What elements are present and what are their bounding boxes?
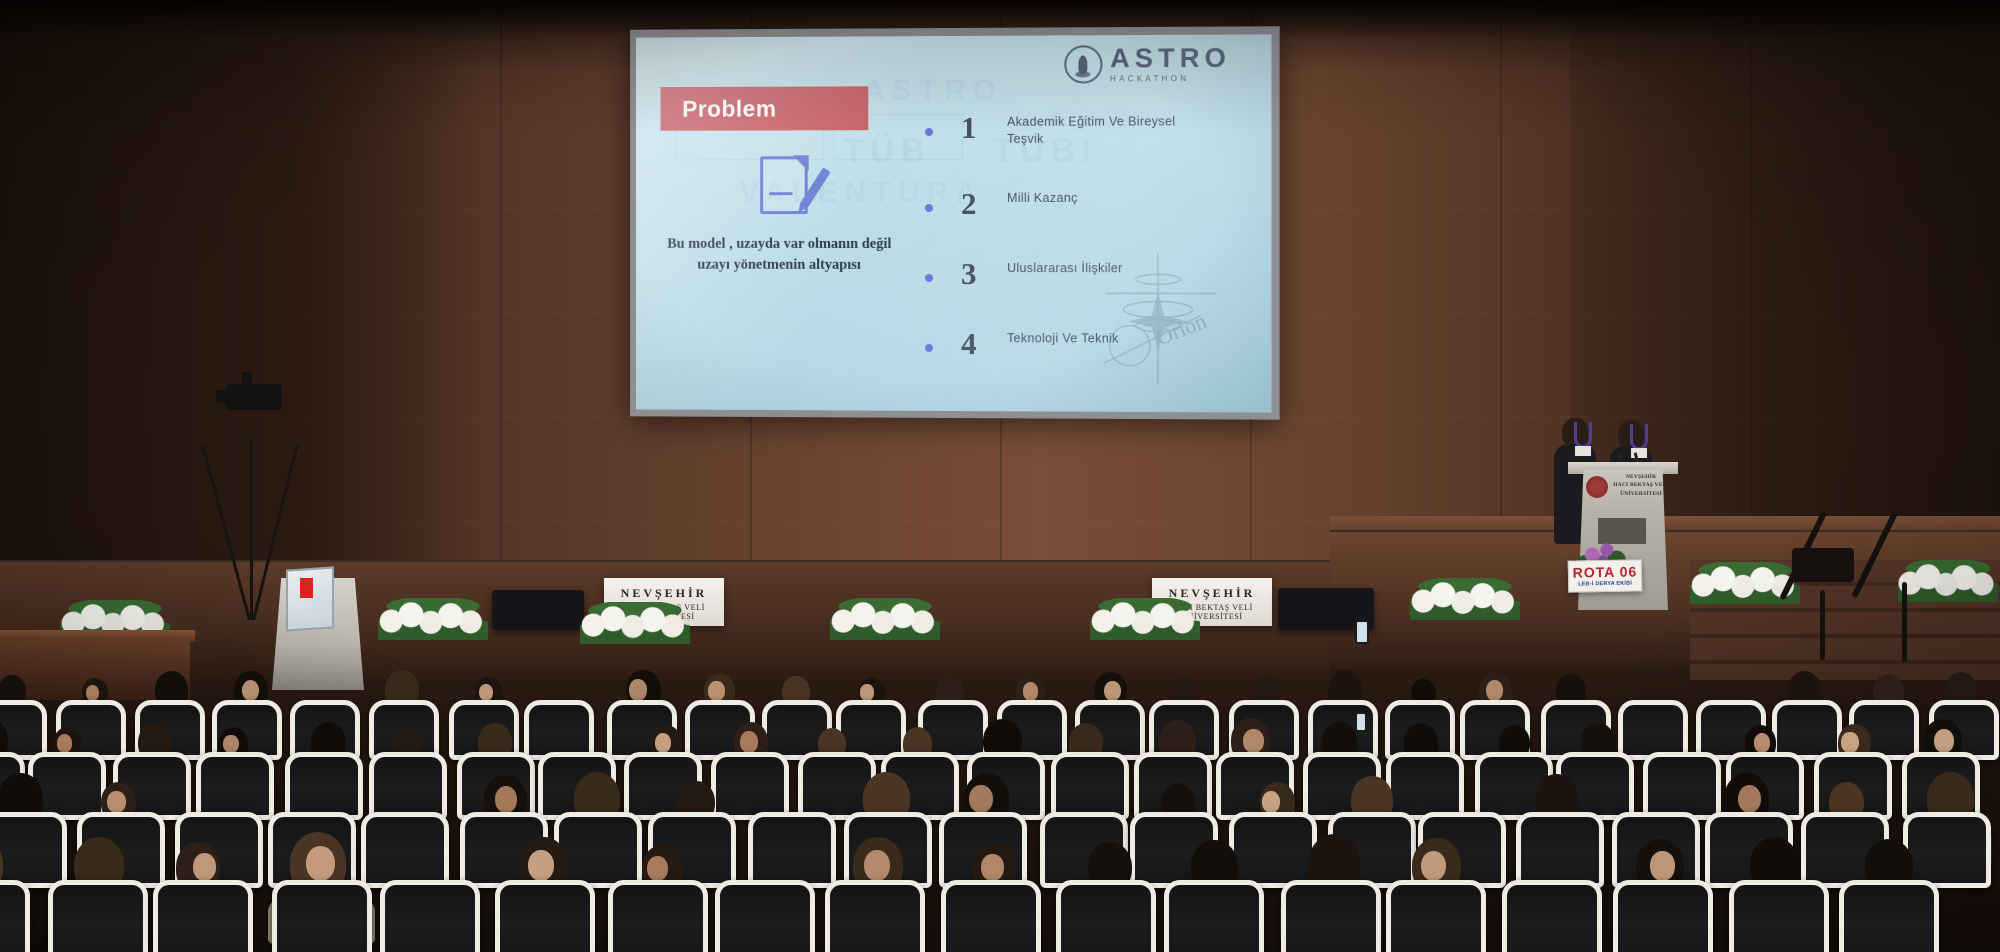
- flower-arrangement: [378, 598, 488, 640]
- auditorium-seat: [836, 700, 906, 760]
- audience-person-face: [479, 684, 493, 701]
- auditorium-seat: [495, 880, 595, 952]
- handrail: [1902, 582, 1907, 662]
- auditorium-seat: [272, 880, 372, 952]
- audience-person-face: [193, 853, 216, 881]
- astro-logo-primary: ASTRO: [1110, 45, 1231, 73]
- podium-institution-text: NEVŞEHİR HACI BEKTAŞ VELİ ÜNİVERSİTESİ: [1608, 473, 1674, 498]
- auditorium-seat: [1056, 880, 1156, 952]
- auditorium-seat: [0, 880, 30, 952]
- list-item-number: 2: [961, 186, 977, 222]
- flower-arrangement: [830, 598, 940, 640]
- list-item-label: Milli Kazanç: [1007, 190, 1178, 207]
- audience-person-face: [1421, 851, 1446, 881]
- camera-stand: [1820, 590, 1825, 660]
- auditorium-seat: [825, 880, 925, 952]
- audience-person-face: [1934, 729, 1954, 753]
- auditorium-seat: [715, 880, 815, 952]
- audience-phone: [1355, 620, 1369, 644]
- university-seal-icon: [1586, 476, 1608, 498]
- flower-arrangement: [580, 602, 690, 644]
- audience-person-face: [495, 786, 517, 813]
- auditorium-scene: ASTRO TÜB TUBI VALENTURA Problem ASTRO H…: [0, 0, 2000, 952]
- flower-arrangement: [1898, 560, 1998, 602]
- auditorium-seat: [608, 880, 708, 952]
- team-sign: ROTA 06 LEB-İ DERYA EKİBİ: [1568, 559, 1643, 592]
- auditorium-seat: [1051, 752, 1129, 820]
- astro-logo-text: ASTRO HACKATHON: [1110, 45, 1231, 84]
- audience-person-face: [629, 679, 647, 700]
- podium-line-1: NEVŞEHİR: [1608, 473, 1674, 481]
- video-camera-on-tripod: [196, 370, 306, 620]
- auditorium-seat: [941, 880, 1041, 952]
- bullet-dot-icon: [925, 274, 933, 282]
- flower-arrangement: [1410, 578, 1520, 620]
- broadcast-camera: [1792, 548, 1854, 582]
- auditorium-seat: [554, 812, 642, 888]
- audience-person-face: [969, 785, 993, 813]
- slide-caption-line-2: uzayı yönetmenin altyapısı: [661, 255, 899, 276]
- astro-logo-secondary: HACKATHON: [1110, 75, 1231, 84]
- lanyard-icon: [1630, 424, 1648, 450]
- list-item-number: 4: [961, 326, 977, 362]
- list-item-number: 1: [961, 110, 977, 146]
- rocket-in-circle-icon: [1064, 45, 1102, 83]
- auditorium-seat: [361, 812, 449, 888]
- auditorium-seat: [48, 880, 148, 952]
- audience-person-face: [655, 733, 672, 753]
- slide-title: Problem: [682, 95, 776, 122]
- auditorium-seat: [1386, 880, 1486, 952]
- audience-person-face: [306, 846, 335, 881]
- audience-person-face: [1023, 682, 1038, 700]
- audience-person-face: [223, 735, 238, 753]
- auditorium-seat: [0, 812, 67, 888]
- audience-person-face: [740, 731, 758, 752]
- auditorium-seat: [1229, 812, 1317, 888]
- audience-person-face: [528, 850, 554, 881]
- auditorium-seat: [1516, 812, 1604, 888]
- podium-line-2: HACI BEKTAŞ VELİ: [1608, 481, 1674, 489]
- auditorium-seat: [1164, 880, 1264, 952]
- auditorium-seat: [1502, 880, 1602, 952]
- auditorium-seat: [1613, 880, 1713, 952]
- list-item-label: Akademik Eğitim Ve Bireysel Teşvik: [1007, 113, 1178, 147]
- lanyard-icon: [1574, 422, 1592, 448]
- nameplate-line-1: NEVŞEHİR: [621, 586, 708, 601]
- audience-person-face: [708, 681, 724, 700]
- document-pencil-icon: [760, 156, 808, 214]
- auditorium-seat: [1839, 880, 1939, 952]
- astro-hackathon-logo: ASTRO HACKATHON: [1064, 45, 1231, 84]
- list-item-number: 3: [961, 256, 977, 292]
- auditorium-seat: [1772, 700, 1842, 760]
- audience-person-face: [1738, 785, 1762, 813]
- auditorium-seat: [711, 752, 789, 820]
- watermark-astro-ghost: ASTRO: [863, 74, 1003, 108]
- audience-person-face: [1486, 680, 1503, 701]
- team-sign-title: ROTA 06: [1573, 564, 1638, 579]
- audience-person-face: [860, 684, 873, 700]
- auditorium-seat: [1281, 880, 1381, 952]
- presentation-slide: ASTRO TÜB TUBI VALENTURA Problem ASTRO H…: [636, 34, 1272, 412]
- stage-monitor: [492, 590, 584, 630]
- audience-person-face: [1243, 729, 1263, 753]
- audience-person-face: [242, 680, 260, 701]
- projection-screen: ASTRO TÜB TUBI VALENTURA Problem ASTRO H…: [636, 34, 1272, 412]
- audience-person-face: [1262, 791, 1280, 813]
- auditorium-seat: [1386, 752, 1464, 820]
- auditorium-seat: [285, 752, 363, 820]
- auditorium-seat: [1643, 752, 1721, 820]
- list-item: 2 Milli Kazanç: [925, 184, 1176, 240]
- bullet-dot-icon: [925, 128, 933, 136]
- auditorium-seat: [0, 700, 47, 760]
- audience-person-face: [981, 854, 1003, 881]
- auditorium-seat: [1729, 880, 1829, 952]
- audience-person-face: [1104, 681, 1121, 701]
- audience-person-face: [1650, 851, 1675, 881]
- audience-person-face: [864, 850, 890, 881]
- audience-person-face: [647, 856, 668, 881]
- podium-line-3: ÜNİVERSİTESİ: [1608, 490, 1674, 498]
- slide-caption: Bu model , uzayda var olmanın değil uzay…: [661, 234, 899, 276]
- bullet-dot-icon: [925, 204, 933, 212]
- audience-person-face: [1841, 732, 1858, 753]
- auditorium-seat: [380, 880, 480, 952]
- badge-icon: [1575, 446, 1591, 456]
- audience-phone: [1355, 712, 1367, 732]
- auditorium-seat: [369, 752, 447, 820]
- auditorium-seat: [524, 700, 594, 760]
- flower-arrangement: [1090, 598, 1200, 640]
- bullet-dot-icon: [925, 344, 933, 352]
- camera-body-icon: [226, 384, 282, 410]
- audience-person-face: [57, 734, 72, 752]
- orion-watermark-icon: Orion: [1087, 253, 1228, 384]
- slide-caption-line-1: Bu model , uzayda var olmanın değil: [661, 234, 899, 255]
- auditorium-seat: [196, 752, 274, 820]
- audience-person-face: [107, 791, 125, 813]
- projection-screen-frame: ASTRO TÜB TUBI VALENTURA Problem ASTRO H…: [630, 26, 1280, 420]
- team-sign-subtitle: LEB-İ DERYA EKİBİ: [1578, 581, 1632, 588]
- audience-person-face: [86, 685, 99, 701]
- list-item: 1 Akademik Eğitim Ve Bireysel Teşvik: [925, 107, 1176, 170]
- auditorium-seat: [748, 812, 836, 888]
- auditorium-seat: [153, 880, 253, 952]
- audience-person-face: [1754, 733, 1770, 752]
- auditorium-seat: [1618, 700, 1688, 760]
- slide-title-band: Problem: [661, 86, 869, 130]
- auditorium-seat: [1903, 812, 1991, 888]
